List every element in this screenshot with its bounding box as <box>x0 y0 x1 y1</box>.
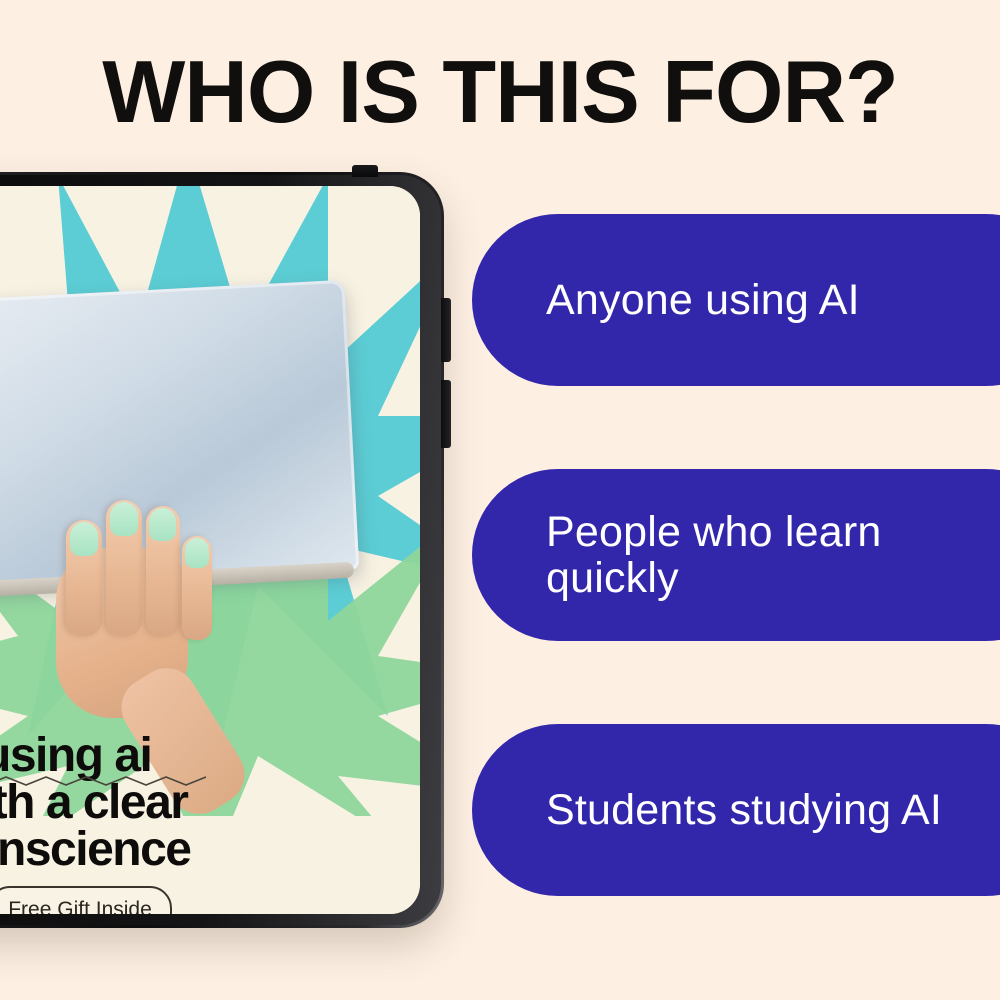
cover-title-line-3: conscience <box>0 826 402 873</box>
cover-title: using ai with a clear conscience <box>0 732 402 873</box>
nail-index <box>70 522 98 556</box>
free-gift-badge: Free Gift Inside <box>0 886 172 914</box>
page-title: WHO IS THIS FOR? <box>0 48 1000 136</box>
audience-pill-anyone-using-ai[interactable]: Anyone using AI <box>472 214 1000 386</box>
audience-pill-label: Students studying AI <box>546 787 942 833</box>
tablet-screen[interactable]: using ai with a clear conscience Free Gi… <box>0 186 420 914</box>
power-button[interactable] <box>352 165 378 177</box>
audience-pill-people-who-learn-quickly[interactable]: People who learnquickly <box>472 469 1000 641</box>
volume-up-button[interactable] <box>441 298 451 362</box>
audience-pill-students-studying-ai[interactable]: Students studying AI <box>472 724 1000 896</box>
cover-photo <box>0 290 382 710</box>
tablet-frame: using ai with a clear conscience Free Gi… <box>0 172 444 928</box>
zigzag-underline-icon <box>0 774 216 788</box>
audience-pill-label: Anyone using AI <box>546 277 860 323</box>
volume-down-button[interactable] <box>441 380 451 448</box>
nail-pinky <box>185 538 209 568</box>
nail-ring <box>149 508 176 541</box>
slide-canvas: WHO IS THIS FOR? <box>0 0 1000 1000</box>
tablet-mockup: using ai with a clear conscience Free Gi… <box>0 172 444 928</box>
cover-title-line-1: using ai <box>0 732 402 779</box>
nail-middle <box>110 502 138 536</box>
audience-pill-label: People who learnquickly <box>546 509 881 602</box>
ebook-cover: using ai with a clear conscience Free Gi… <box>0 186 420 914</box>
